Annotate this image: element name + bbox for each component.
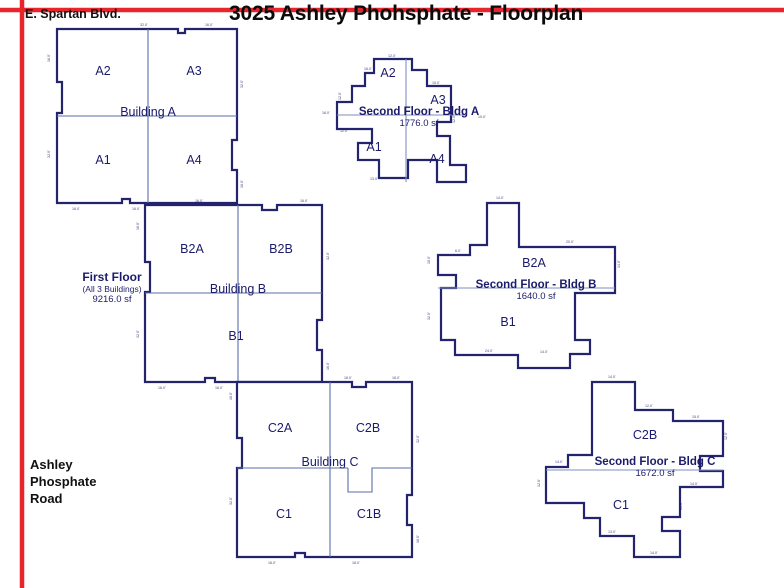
svg-text:20.0': 20.0' xyxy=(566,240,574,244)
svg-text:10.0': 10.0' xyxy=(427,256,431,264)
unit-label-a3[interactable]: A3 xyxy=(186,64,201,78)
svg-text:15.0': 15.0' xyxy=(692,415,700,419)
second-floor-b-unit-label-b1[interactable]: B1 xyxy=(500,315,515,329)
second-floor-b-unit-label-b2a[interactable]: B2A xyxy=(522,256,546,270)
svg-text:15.0': 15.0' xyxy=(432,81,440,85)
svg-text:16.0': 16.0' xyxy=(195,199,203,203)
svg-text:16.0': 16.0' xyxy=(392,376,400,380)
road-label-ashley-phosphate: Ashley Phosphate Road xyxy=(30,456,96,507)
page-title: 3025 Ashley Phohsphate - Floorplan xyxy=(229,2,583,26)
svg-text:24.0': 24.0' xyxy=(485,349,493,353)
svg-text:32.0': 32.0' xyxy=(240,80,244,88)
second-floor-c-unit-label-c1[interactable]: C1 xyxy=(613,498,629,512)
svg-text:12.0': 12.0' xyxy=(724,432,728,440)
road-label-ashley-phosphate-line2: Phosphate xyxy=(30,473,96,490)
svg-text:14.0': 14.0' xyxy=(617,260,621,268)
svg-text:32.0': 32.0' xyxy=(229,497,233,505)
svg-text:13.0': 13.0' xyxy=(608,530,616,534)
svg-text:16.0': 16.0' xyxy=(132,207,140,211)
svg-text:16.0': 16.0' xyxy=(300,199,308,203)
svg-text:32.0': 32.0' xyxy=(326,252,330,260)
first-floor-summary: First Floor (All 3 Buildings) 9216.0 sf xyxy=(82,270,141,305)
svg-text:16.0': 16.0' xyxy=(416,535,420,543)
second-floor-a-unit-label-a1[interactable]: A1 xyxy=(366,140,381,154)
svg-text:16.0': 16.0' xyxy=(326,362,330,370)
svg-text:32.0': 32.0' xyxy=(47,150,51,158)
svg-text:14.0': 14.0' xyxy=(540,350,548,354)
second-floor-b-area: 1640.0 sf xyxy=(476,291,597,302)
svg-text:16.0': 16.0' xyxy=(268,561,276,565)
svg-text:16.0': 16.0' xyxy=(322,111,330,115)
building-label-c: Building C xyxy=(302,455,359,469)
second-floor-c-summary: Second Floor - Bldg C 1672.0 sf xyxy=(595,456,716,479)
unit-label-b1[interactable]: B1 xyxy=(228,329,243,343)
svg-text:12.0': 12.0' xyxy=(340,129,348,133)
unit-label-b2a[interactable]: B2A xyxy=(180,242,204,256)
svg-text:16.0': 16.0' xyxy=(47,54,51,62)
second-floor-b-title: Second Floor - Bldg B xyxy=(476,279,597,291)
first-floor-area: 9216.0 sf xyxy=(82,294,141,305)
second-floor-c-title: Second Floor - Bldg C xyxy=(595,456,716,468)
svg-text:16.0': 16.0' xyxy=(72,207,80,211)
svg-text:14.0': 14.0' xyxy=(496,196,504,200)
second-floor-b-summary: Second Floor - Bldg B 1640.0 sf xyxy=(476,279,597,302)
svg-text:16.0': 16.0' xyxy=(215,386,223,390)
unit-label-c1[interactable]: C1 xyxy=(276,507,292,521)
building-c-outline xyxy=(237,382,412,557)
svg-text:12.0': 12.0' xyxy=(388,54,396,58)
svg-text:14.0': 14.0' xyxy=(555,460,563,464)
svg-text:12.0': 12.0' xyxy=(645,404,653,408)
svg-text:16.0': 16.0' xyxy=(352,561,360,565)
second-floor-a-summary: Second Floor - Bldg A 1776.0 sf xyxy=(359,106,479,129)
second-floor-a-area: 1776.0 sf xyxy=(359,118,479,129)
first-floor-title: First Floor xyxy=(82,270,141,284)
second-floor-a-title: Second Floor - Bldg A xyxy=(359,106,479,118)
unit-label-b2b[interactable]: B2B xyxy=(269,242,293,256)
svg-text:13.0': 13.0' xyxy=(370,177,378,181)
svg-text:16.0': 16.0' xyxy=(344,376,352,380)
unit-label-c2a[interactable]: C2A xyxy=(268,421,292,435)
svg-text:16.0': 16.0' xyxy=(240,180,244,188)
svg-text:32.0': 32.0' xyxy=(140,23,148,27)
second-floor-c-area: 1672.0 sf xyxy=(595,468,716,479)
svg-text:16.0': 16.0' xyxy=(229,392,233,400)
floorplan-canvas: .wall { fill:#ffffff; stroke:#23236e; st… xyxy=(0,0,784,588)
first-floor-subtitle: (All 3 Buildings) xyxy=(82,284,141,294)
svg-text:32.0': 32.0' xyxy=(427,312,431,320)
unit-label-a4[interactable]: A4 xyxy=(186,153,201,167)
road-label-ashley-phosphate-line3: Road xyxy=(30,490,96,507)
svg-text:14.0': 14.0' xyxy=(650,551,658,555)
unit-label-c1b[interactable]: C1B xyxy=(357,507,381,521)
svg-text:14.0': 14.0' xyxy=(608,375,616,379)
svg-text:14.0': 14.0' xyxy=(690,482,698,486)
road-label-ashley-phosphate-line1: Ashley xyxy=(30,456,96,473)
unit-label-c2b[interactable]: C2B xyxy=(356,421,380,435)
road-label-e-spartan-blvd: E. Spartan Blvd. xyxy=(25,7,121,21)
svg-text:12.0': 12.0' xyxy=(338,92,342,100)
svg-text:16.0': 16.0' xyxy=(158,386,166,390)
svg-text:32.0': 32.0' xyxy=(136,330,140,338)
second-floor-a-unit-label-a3[interactable]: A3 xyxy=(430,93,445,107)
svg-text:15.0': 15.0' xyxy=(679,502,683,510)
unit-label-a1[interactable]: A1 xyxy=(95,153,110,167)
unit-label-a2[interactable]: A2 xyxy=(95,64,110,78)
svg-text:12.0': 12.0' xyxy=(537,479,541,487)
svg-text:10.0': 10.0' xyxy=(478,115,486,119)
svg-text:32.0': 32.0' xyxy=(416,435,420,443)
first-floor-building-c[interactable] xyxy=(237,382,412,557)
svg-text:16.0': 16.0' xyxy=(136,222,140,230)
building-label-a: Building A xyxy=(120,105,176,119)
second-floor-a-unit-label-a4[interactable]: A4 xyxy=(429,152,444,166)
svg-text:6.0': 6.0' xyxy=(455,249,461,253)
building-label-b: Building B xyxy=(210,282,266,296)
svg-text:16.0': 16.0' xyxy=(364,67,372,71)
second-floor-a-unit-label-a2[interactable]: A2 xyxy=(380,66,395,80)
second-floor-c-unit-label-c2b[interactable]: C2B xyxy=(633,428,657,442)
svg-text:16.0': 16.0' xyxy=(205,23,213,27)
